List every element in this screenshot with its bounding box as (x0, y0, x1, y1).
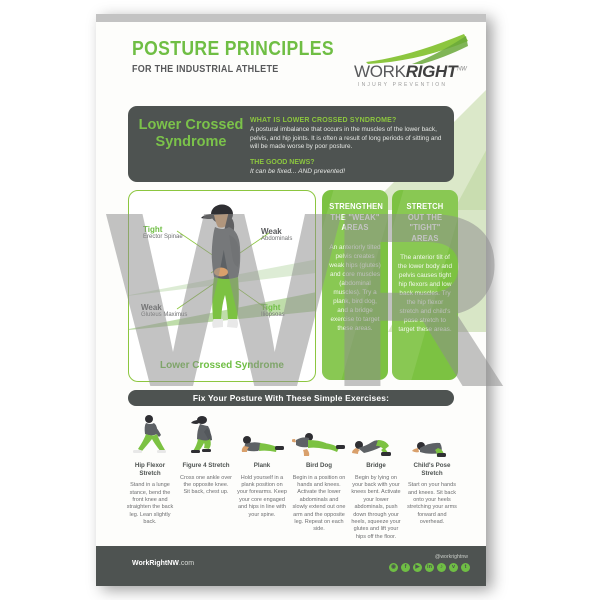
exercise-name: Bird Dog (292, 462, 346, 470)
youtube-icon[interactable]: ▶ (413, 563, 422, 572)
page-subtitle: FOR THE INDUSTRIAL ATHLETE (132, 63, 279, 75)
exercise-desc: Stand in a lunge stance, bend the front … (124, 482, 176, 526)
diagram-label-2-value: Gluteus Maximus (141, 312, 187, 319)
diagram-label-0-key: Tight (143, 225, 183, 234)
intro-answer-2: It can be fixed... AND prevented! (250, 168, 446, 175)
diagram-label-0-value: Erector Spinae (143, 234, 183, 241)
exercise-name: Bridge (350, 462, 402, 470)
linkedin-icon[interactable]: in (425, 563, 434, 572)
diagram-label-3-key: Tight (261, 303, 285, 312)
exercise-name: Plank (236, 462, 288, 470)
exercise-desc: Cross one ankle over the opposite knee. … (180, 475, 232, 497)
card-stretch-heading: STRETCH OUT THE "TIGHT" AREAS (399, 202, 451, 244)
intro-panel: Lower Crossed Syndrome WHAT IS LOWER CRO… (128, 106, 454, 182)
childs-pose-stretch-figure-icon (406, 412, 458, 458)
card-stretch-body: The anterior tilt of the lower body and … (398, 253, 452, 334)
exercise-item: Plank Hold yourself in a plank position … (234, 412, 290, 562)
hip-flexor-stretch-figure-icon (124, 412, 176, 458)
diagram-label-3: Tight Iliopsoas (261, 303, 285, 319)
brand-logo: WORKRIGHTNW INJURY PREVENTION (348, 32, 472, 94)
exercise-name: Figure 4 Stretch (180, 462, 232, 470)
person-side-view-illustration (129, 191, 315, 381)
logo-swoosh-icon (364, 34, 468, 64)
posture-diagram: Tight Erector Spinae Weak Abdominals Wea… (128, 190, 316, 382)
exercise-row: Hip Flexor Stretch Stand in a lunge stan… (122, 412, 460, 562)
logo-word-work: WORK (354, 62, 406, 81)
footer-social-icons: ◉ f ▶ in ♪ v t (389, 563, 470, 572)
exercise-item: Figure 4 Stretch Cross one ankle over th… (178, 412, 234, 562)
footer-website: WorkRightNW.com (132, 560, 194, 567)
logo-superscript-nw: NW (457, 66, 466, 72)
card-strengthen-body: An anteriorly tilted pelvis creates weak… (328, 243, 382, 333)
card-strengthen: STRENGTHEN THE "WEAK" AREAS An anteriorl… (322, 190, 388, 380)
intro-question-2: THE GOOD NEWS? (250, 159, 446, 166)
exercise-desc: Hold yourself in a plank position on you… (236, 475, 288, 519)
diagram-label-1-value: Abdominals (261, 236, 292, 243)
diagram-caption: Lower Crossed Syndrome (129, 360, 315, 371)
diagram-label-2-key: Weak (141, 303, 187, 312)
twitter-icon[interactable]: t (461, 563, 470, 572)
exercise-item: Hip Flexor Stretch Stand in a lunge stan… (122, 412, 178, 562)
figure-4-stretch-figure-icon (180, 412, 232, 458)
intro-copy: WHAT IS LOWER CROSSED SYNDROME? A postur… (250, 117, 446, 175)
tiktok-icon[interactable]: ♪ (437, 563, 446, 572)
middle-row: Tight Erector Spinae Weak Abdominals Wea… (128, 190, 454, 380)
exercise-desc: Begin in a position on hands and knees. … (292, 475, 346, 534)
bridge-figure-icon (350, 412, 402, 458)
diagram-label-1-key: Weak (261, 227, 292, 236)
page-title: POSTURE PRINCIPLES (132, 38, 334, 61)
instagram-icon[interactable]: ◉ (389, 563, 398, 572)
poster-top-band (96, 14, 486, 22)
card-strengthen-heading: STRENGTHEN THE "WEAK" AREAS (329, 202, 381, 234)
exercise-name: Child's Pose Stretch (406, 462, 458, 477)
logo-word-right: RIGHT (406, 62, 457, 81)
exercise-item: Child's Pose Stretch Start on your hands… (404, 412, 460, 562)
bird-dog-figure-icon (292, 412, 346, 458)
logo-wordmark: WORKRIGHTNW (354, 62, 466, 82)
diagram-label-0: Tight Erector Spinae (143, 225, 183, 241)
poster-header: POSTURE PRINCIPLES FOR THE INDUSTRIAL AT… (96, 24, 486, 98)
footer-website-tld: .com (179, 560, 194, 567)
facebook-icon[interactable]: f (401, 563, 410, 572)
exercise-item: Bridge Begin by lying on your back with … (348, 412, 404, 562)
poster-footer: WorkRightNW.com @workrightnw ◉ f ▶ in ♪ … (96, 546, 486, 586)
card-stretch: STRETCH OUT THE "TIGHT" AREAS The anteri… (392, 190, 458, 380)
exercises-bar: Fix Your Posture With These Simple Exerc… (128, 390, 454, 406)
exercise-item: Bird Dog Begin in a position on hands an… (290, 412, 348, 562)
diagram-label-2: Weak Gluteus Maximus (141, 303, 187, 319)
condition-heading: Lower Crossed Syndrome (138, 117, 244, 151)
logo-tagline: INJURY PREVENTION (358, 82, 447, 88)
footer-website-bold: WorkRightNW (132, 560, 179, 567)
diagram-label-1: Weak Abdominals (261, 227, 292, 243)
exercise-name: Hip Flexor Stretch (124, 462, 176, 477)
intro-question-1: WHAT IS LOWER CROSSED SYNDROME? (250, 117, 446, 124)
screenshot-stage: POSTURE PRINCIPLES FOR THE INDUSTRIAL AT… (0, 0, 600, 600)
exercise-desc: Begin by lying on your back with your kn… (350, 475, 402, 542)
exercise-desc: Start on your hands and knees. Sit back … (406, 482, 458, 526)
plank-figure-icon (236, 412, 288, 458)
footer-social-handle: @workrightnw (348, 554, 468, 560)
intro-answer-1: A postural imbalance that occurs in the … (250, 126, 446, 152)
poster: POSTURE PRINCIPLES FOR THE INDUSTRIAL AT… (96, 14, 486, 586)
diagram-label-3-value: Iliopsoas (261, 312, 285, 319)
vimeo-icon[interactable]: v (449, 563, 458, 572)
